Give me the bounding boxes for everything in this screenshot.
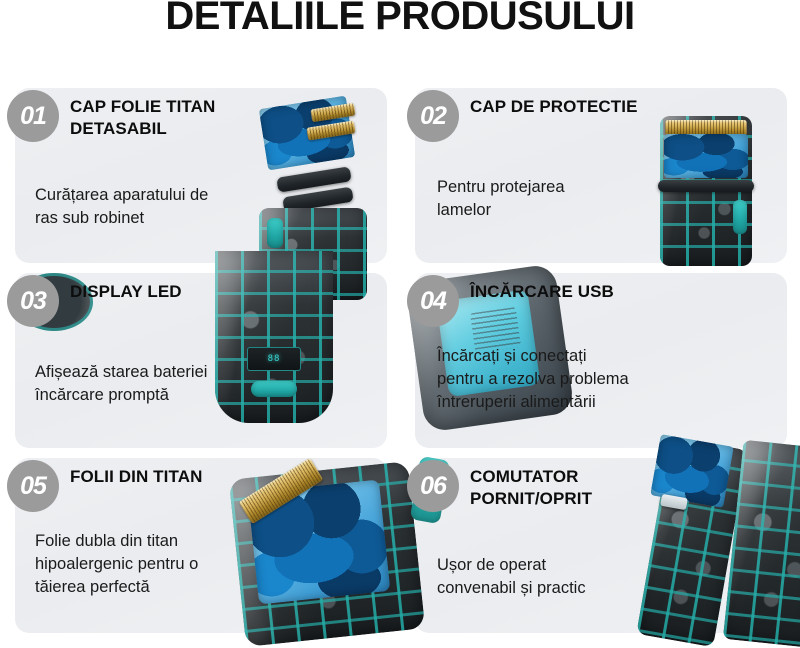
card-heading-wrap: ÎNCĂRCARE USB bbox=[470, 281, 710, 303]
card-number-badge: 05 bbox=[7, 460, 59, 512]
camo-foil-panel bbox=[664, 134, 748, 178]
detail-card-01: 01 CAP FOLIE TITAN DETASABIL Curățarea a… bbox=[15, 88, 387, 263]
card-number-badge: 03 bbox=[7, 275, 59, 327]
adjacent-unit bbox=[723, 440, 800, 648]
card-title: COMUTATOR PORNIT/OPRIT bbox=[470, 466, 710, 510]
card-description: Folie dubla din titan hipoalergenic pent… bbox=[35, 530, 290, 599]
gold-blade-strip bbox=[665, 120, 747, 136]
detail-card-03: 88 03 DISPLAY LED Afișează starea bateri… bbox=[15, 273, 387, 448]
card-title: FOLII DIN TITAN bbox=[70, 466, 310, 488]
card-heading-wrap: FOLII DIN TITAN bbox=[70, 466, 310, 488]
card-title: CAP DE PROTECTIE bbox=[470, 96, 710, 118]
card-heading-wrap: CAP DE PROTECTIE bbox=[470, 96, 710, 118]
card-description: Încărcați și conectați pentru a rezolva … bbox=[437, 345, 692, 414]
detail-card-02: 02 CAP DE PROTECTIE Pentru protejarea la… bbox=[415, 88, 787, 263]
detail-card-04: 04 ÎNCĂRCARE USB Încărcați și conectați … bbox=[415, 273, 787, 448]
gold-blade-strip-lower bbox=[306, 120, 355, 140]
gold-blade-strip-upper bbox=[310, 103, 355, 123]
card-heading-wrap: DISPLAY LED bbox=[70, 281, 310, 303]
product-details-grid: 01 CAP FOLIE TITAN DETASABIL Curățarea a… bbox=[0, 88, 800, 632]
card-title: CAP FOLIE TITAN DETASABIL bbox=[70, 96, 310, 140]
page-title: DETALIILE PRODUSULUI bbox=[0, 0, 800, 39]
card-description: Curățarea aparatului de ras sub robinet bbox=[35, 184, 290, 230]
card-number-badge: 02 bbox=[407, 90, 459, 142]
circuit-texture bbox=[723, 440, 800, 648]
teal-accent bbox=[733, 200, 747, 234]
card-number-badge: 01 bbox=[7, 90, 59, 142]
card-description: Ușor de operat convenabil și practic bbox=[437, 554, 692, 600]
card-heading-wrap: COMUTATOR PORNIT/OPRIT bbox=[470, 466, 710, 510]
card-title: ÎNCĂRCARE USB bbox=[470, 281, 710, 303]
card-description: Pentru protejarea lamelor bbox=[437, 176, 692, 222]
card-number-badge: 04 bbox=[407, 275, 459, 327]
card-description: Afișează starea bateriei încărcare promp… bbox=[35, 361, 290, 407]
glass-sheen bbox=[723, 440, 800, 648]
card-title: DISPLAY LED bbox=[70, 281, 310, 303]
card-number-badge: 06 bbox=[407, 460, 459, 512]
card-heading-wrap: CAP FOLIE TITAN DETASABIL bbox=[70, 96, 310, 140]
detail-card-05: 05 FOLII DIN TITAN Folie dubla din titan… bbox=[15, 458, 387, 633]
detail-card-06: 06 COMUTATOR PORNIT/OPRIT Ușor de operat… bbox=[415, 458, 787, 633]
head-clip-lower bbox=[282, 187, 353, 213]
